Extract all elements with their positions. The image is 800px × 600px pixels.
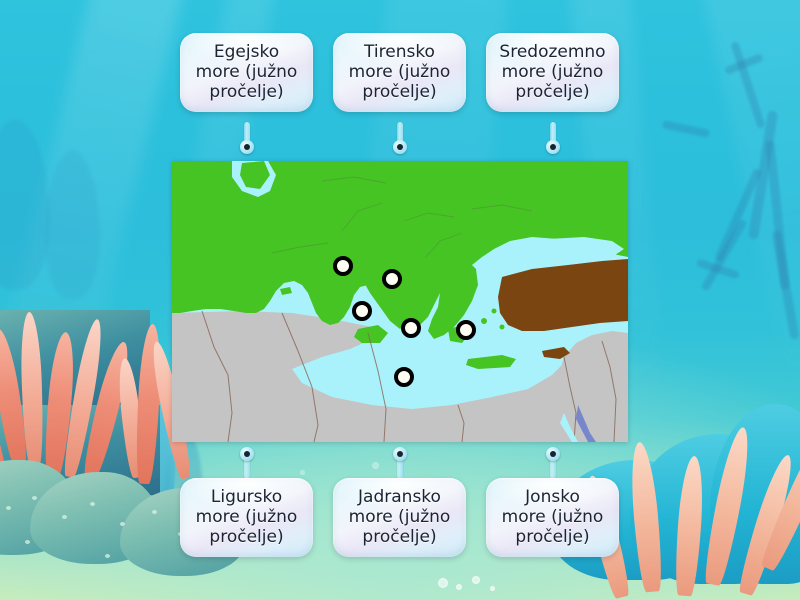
label-card-egejsko[interactable]: Egejsko more (južno pročelje) — [180, 33, 313, 112]
label-pin-egejsko — [240, 122, 254, 154]
label-card-ligursko[interactable]: Ligursko more (južno pročelje) — [180, 478, 313, 557]
label-pin-tirensko — [393, 122, 407, 154]
label-card-sredozemno[interactable]: Sredozemno more (južno pročelje) — [486, 33, 619, 112]
label-pin-sredozemno — [546, 122, 560, 154]
map-marker[interactable] — [456, 320, 476, 340]
map-marker[interactable] — [352, 301, 372, 321]
map-marker[interactable] — [333, 256, 353, 276]
label-card-text: Jadransko more (južno pročelje) — [339, 487, 460, 547]
map-marker[interactable] — [382, 269, 402, 289]
label-card-jadransko[interactable]: Jadransko more (južno pročelje) — [333, 478, 466, 557]
map-marker[interactable] — [394, 367, 414, 387]
map-image — [172, 161, 628, 442]
label-card-text: Jonsko more (južno pročelje) — [492, 487, 613, 547]
label-card-text: Ligursko more (južno pročelje) — [186, 487, 307, 547]
label-card-text: Tirensko more (južno pročelje) — [339, 42, 460, 102]
label-card-text: Egejsko more (južno pročelje) — [186, 42, 307, 102]
aegean-island — [492, 309, 497, 314]
label-pin-jonsko — [546, 447, 560, 479]
aegean-island — [500, 325, 505, 330]
activity-stage: Egejsko more (južno pročelje) Tirensko m… — [0, 0, 800, 600]
aegean-island — [481, 318, 487, 324]
mediterranean-map-svg — [172, 161, 628, 442]
map-marker[interactable] — [401, 318, 421, 338]
label-card-jonsko[interactable]: Jonsko more (južno pročelje) — [486, 478, 619, 557]
label-pin-jadransko — [393, 447, 407, 479]
label-card-text: Sredozemno more (južno pročelje) — [492, 42, 613, 102]
label-card-tirensko[interactable]: Tirensko more (južno pročelje) — [333, 33, 466, 112]
